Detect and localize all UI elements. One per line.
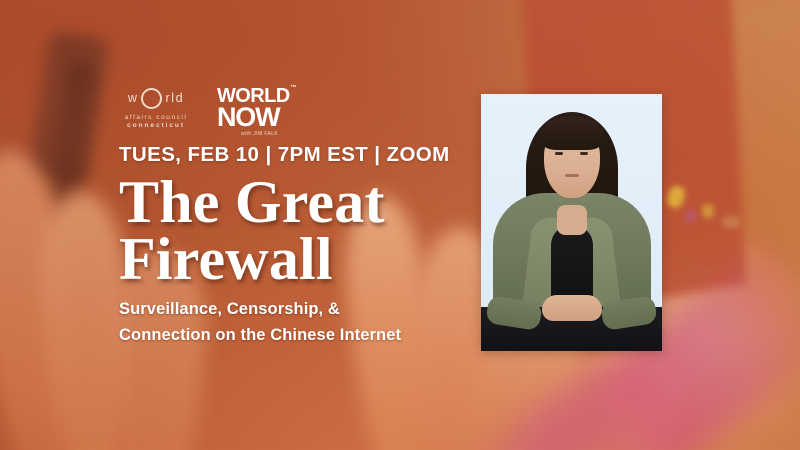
speaker-eye-right xyxy=(580,152,588,155)
world-now-line1: WORLD™ xyxy=(217,87,290,106)
page-title: The Great Firewall xyxy=(119,174,385,288)
speaker-photo xyxy=(481,94,662,351)
wac-wordmark-right: rld xyxy=(165,92,184,105)
speaker-eye-left xyxy=(555,152,563,155)
world-now-tagline: with JIM FALK xyxy=(241,131,290,137)
speaker-clasped-hands xyxy=(542,295,602,321)
event-datetime-platform: TUES, FEB 10 | 7PM EST | ZOOM xyxy=(119,143,450,167)
title-line-2: Firewall xyxy=(119,231,385,288)
speaker-neck xyxy=(557,205,587,235)
subtitle-line-1: Surveillance, Censorship, & xyxy=(119,296,401,322)
wac-subline-connecticut: connecticut xyxy=(119,122,193,130)
poster-content: w rld affairs council connecticut WORLD™… xyxy=(0,0,800,450)
speaker-mouth xyxy=(565,174,579,177)
event-promo-poster: w rld affairs council connecticut WORLD™… xyxy=(0,0,800,450)
trademark-icon: ™ xyxy=(291,86,296,92)
title-line-1: The Great xyxy=(119,174,385,231)
page-subtitle: Surveillance, Censorship, & Connection o… xyxy=(119,296,401,349)
circle-o-icon xyxy=(141,88,162,109)
wac-wordmark-left: w xyxy=(128,92,139,105)
subtitle-line-2: Connection on the Chinese Internet xyxy=(119,322,401,348)
world-affairs-council-logo: w rld affairs council connecticut xyxy=(119,86,193,130)
wac-wordmark: w rld xyxy=(119,88,193,109)
world-now-logo: WORLD™ NOW with JIM FALK xyxy=(217,86,290,137)
wac-subline-affairs-council: affairs council xyxy=(119,114,193,122)
world-now-line2: NOW xyxy=(217,105,290,129)
world-now-word-world: WORLD xyxy=(217,85,290,107)
speaker-hair-fringe xyxy=(539,116,605,150)
logo-row: w rld affairs council connecticut WORLD™… xyxy=(119,86,290,137)
